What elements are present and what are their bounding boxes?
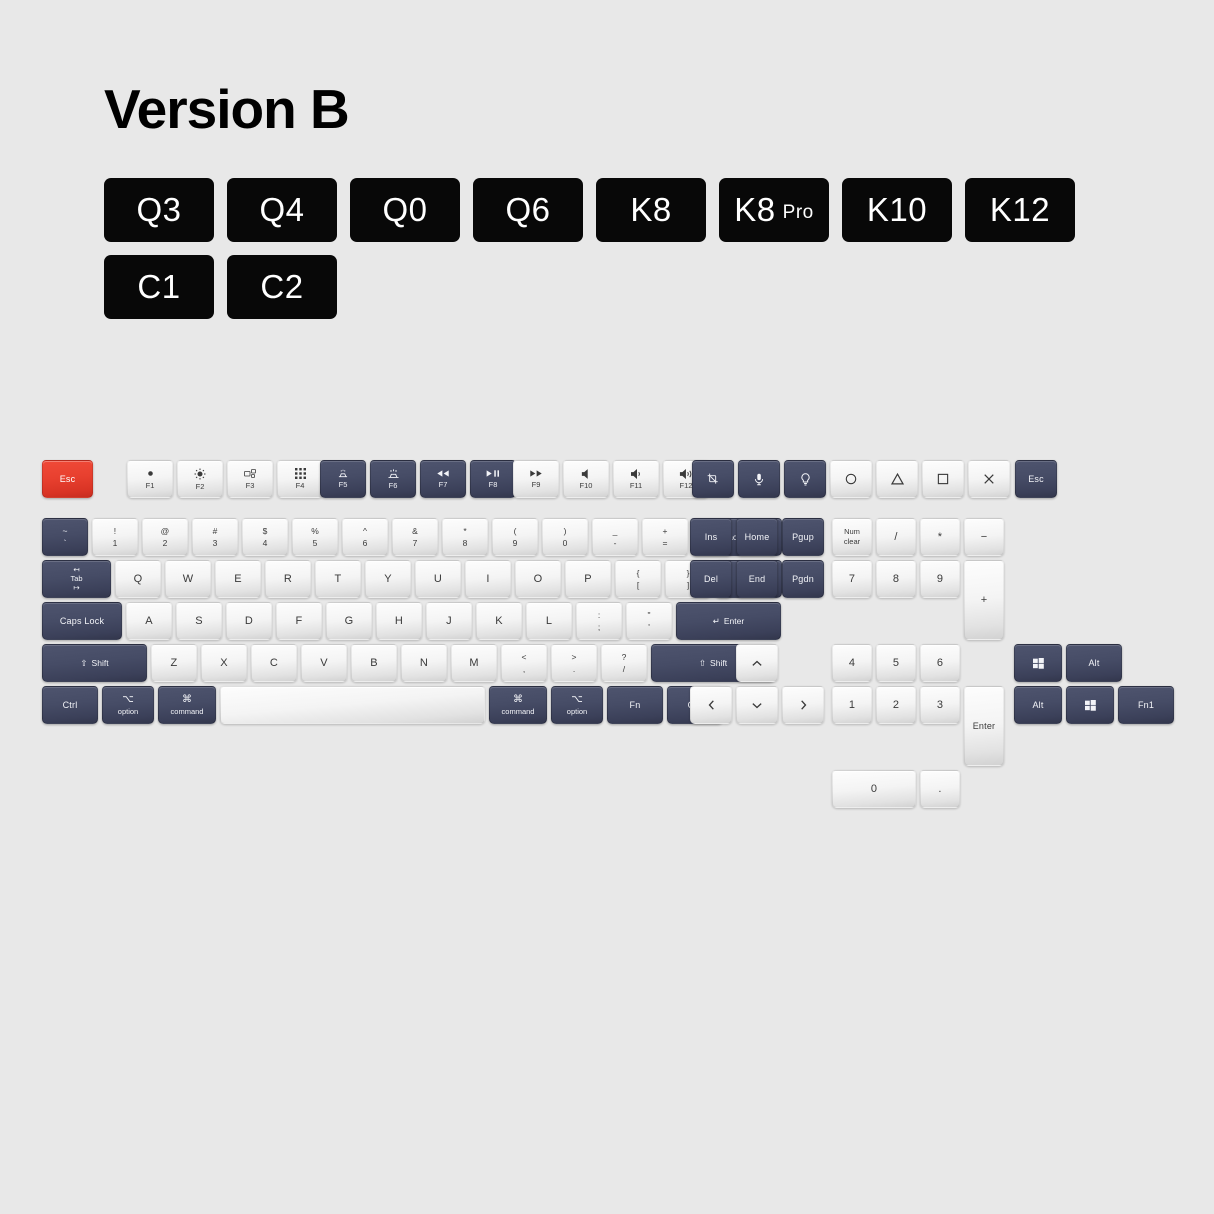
key-legend: W: [183, 573, 194, 586]
lightbulb-icon: [800, 473, 811, 486]
key-legend-shifted: _: [613, 526, 618, 536]
key-legend: 5: [893, 657, 899, 670]
key-legend: Home: [745, 532, 770, 542]
key-d[interactable]: D: [226, 602, 272, 640]
key-8[interactable]: *8: [442, 518, 488, 556]
badge-q6[interactable]: Q6: [473, 178, 583, 242]
key-command-left[interactable]: ⌘command: [158, 686, 216, 724]
key-legend: -: [614, 538, 617, 548]
key-f4[interactable]: F4: [277, 460, 323, 498]
backlight-down-icon: [336, 469, 350, 478]
key-legend: J: [446, 615, 452, 628]
screenshot-icon: [707, 473, 719, 485]
key-i[interactable]: I: [465, 560, 511, 598]
key-y[interactable]: Y: [365, 560, 411, 598]
key-f1[interactable]: F1: [127, 460, 173, 498]
key-legend: option: [567, 708, 587, 716]
numpad-cluster: Num clear / * − 7 8 9 + 4 5 6 1 2 3 Ente…: [832, 518, 1004, 808]
key-legend-shifted: (: [514, 526, 517, 536]
key-r[interactable]: R: [265, 560, 311, 598]
key-0[interactable]: )0: [542, 518, 588, 556]
key-legend: 2: [163, 538, 168, 548]
key-legend: Pgdn: [792, 574, 814, 584]
key-numpad-5[interactable]: 5: [876, 644, 916, 682]
mute-icon: [581, 469, 592, 479]
key-legend: 3: [213, 538, 218, 548]
key-legend: B: [370, 657, 378, 670]
badge-label: K8: [734, 191, 775, 229]
key-lightbulb[interactable]: [784, 460, 826, 498]
key-legend: F8: [489, 481, 498, 489]
key-insert[interactable]: Ins: [690, 518, 732, 556]
key-equal[interactable]: +=: [642, 518, 688, 556]
key-numpad-3[interactable]: 3: [920, 686, 960, 724]
key-legend: F2: [196, 483, 205, 491]
key-alt-left[interactable]: Alt: [1014, 686, 1062, 724]
key-legend: X: [220, 657, 228, 670]
badge-sublabel: Pro: [783, 202, 814, 224]
badge-k8[interactable]: K8: [596, 178, 706, 242]
key-esc-navy[interactable]: Esc: [1015, 460, 1057, 498]
key-numpad-2[interactable]: 2: [876, 686, 916, 724]
windows-extras-cluster: Alt Alt Fn1: [1014, 644, 1174, 724]
key-legend: 0: [563, 538, 568, 548]
key-legend-shifted: {: [637, 568, 640, 578]
number-row: ~` !1 @2 #3 $4 %5 ^6 &7: [42, 518, 782, 556]
key-b[interactable]: B: [351, 644, 397, 682]
key-g[interactable]: G: [326, 602, 372, 640]
key-legend: L: [546, 615, 552, 628]
key-numpad-9[interactable]: 9: [920, 560, 960, 598]
key-fn1[interactable]: Fn1: [1118, 686, 1174, 724]
key-u[interactable]: U: [415, 560, 461, 598]
up-arrow-icon: [752, 660, 762, 667]
key-z[interactable]: Z: [151, 644, 197, 682]
key-legend: U: [434, 573, 442, 586]
key-f5[interactable]: F5: [320, 460, 366, 498]
key-v[interactable]: V: [301, 644, 347, 682]
key-legend: 9: [937, 573, 943, 586]
key-legend: 2: [893, 699, 899, 712]
key-numpad-enter[interactable]: Enter: [964, 686, 1004, 766]
function-row-extras-navy-group: [692, 460, 826, 498]
key-legend: 4: [849, 657, 855, 670]
key-legend: `: [64, 538, 67, 548]
key-numpad-6[interactable]: 6: [920, 644, 960, 682]
key-numpad-decimal[interactable]: .: [920, 770, 960, 808]
key-legend: F10: [580, 482, 593, 490]
key-semicolon[interactable]: :;: [576, 602, 622, 640]
function-row-esc-navy-group: Esc: [1015, 460, 1057, 498]
key-1[interactable]: !1: [92, 518, 138, 556]
microphone-icon: [754, 473, 764, 486]
key-legend: Enter: [724, 616, 744, 626]
key-c[interactable]: C: [251, 644, 297, 682]
enter-arrow-icon: ↵: [713, 616, 720, 627]
key-command-right[interactable]: ⌘command: [489, 686, 547, 724]
key-legend: 7: [849, 573, 855, 586]
right-arrow-icon: [800, 700, 807, 710]
key-legend: 9: [513, 538, 518, 548]
key-alt-right-top[interactable]: Alt: [1066, 644, 1122, 682]
key-num-clear[interactable]: Num clear: [832, 518, 872, 556]
badge-c2[interactable]: C2: [227, 255, 337, 319]
brightness-down-icon: [145, 468, 156, 479]
key-win-right[interactable]: [1066, 686, 1114, 724]
key-legend: K: [495, 615, 503, 628]
key-legend: [: [637, 580, 639, 590]
key-legend: −: [981, 531, 988, 544]
key-numpad-minus[interactable]: −: [964, 518, 1004, 556]
key-legend: Esc: [60, 474, 76, 484]
key-legend: Alt: [1088, 658, 1099, 668]
key-legend: /: [894, 531, 897, 544]
key-legend: F7: [439, 481, 448, 489]
badge-label: Q6: [505, 191, 550, 229]
fast-forward-icon: [529, 469, 543, 478]
key-legend: S: [195, 615, 203, 628]
key-numpad-plus[interactable]: +: [964, 560, 1004, 640]
key-legend: 0: [871, 783, 877, 796]
key-q[interactable]: Q: [115, 560, 161, 598]
key-legend: 1: [113, 538, 118, 548]
key-legend: Shift: [92, 658, 109, 668]
key-f[interactable]: F: [276, 602, 322, 640]
badge-k12[interactable]: K12: [965, 178, 1075, 242]
option-icon: ⌥: [571, 695, 583, 705]
key-shift-left[interactable]: ⇧Shift: [42, 644, 147, 682]
key-legend: .: [938, 783, 941, 796]
key-n[interactable]: N: [401, 644, 447, 682]
modifier-row: Ctrl ⌥option ⌘command ⌘command ⌥option F…: [42, 686, 723, 724]
key-f10[interactable]: F10: [563, 460, 609, 498]
key-legend-shifted: !: [114, 526, 116, 536]
key-legend: 8: [893, 573, 899, 586]
windows-icon: [1033, 658, 1044, 669]
key-j[interactable]: J: [426, 602, 472, 640]
key-p[interactable]: P: [565, 560, 611, 598]
key-legend: F: [296, 615, 303, 628]
key-legend: Y: [384, 573, 392, 586]
compatibility-badge-list: Q3 Q4 Q0 Q6 K8 K8Pro K10 K12 C1 C2: [104, 178, 1075, 332]
key-screenshot[interactable]: [692, 460, 734, 498]
key-legend-shifted: &: [412, 526, 418, 536]
key-legend: F1: [146, 482, 155, 490]
key-legend: Ins: [705, 532, 718, 542]
function-row-media-group: F9 F10 F11: [513, 460, 709, 498]
key-microphone[interactable]: [738, 460, 780, 498]
key-7[interactable]: &7: [392, 518, 438, 556]
key-legend: command: [502, 708, 535, 716]
windows-icon: [1085, 700, 1096, 711]
key-arrow-right[interactable]: [782, 686, 824, 724]
key-t[interactable]: T: [315, 560, 361, 598]
key-triangle[interactable]: [876, 460, 918, 498]
key-legend: N: [420, 657, 428, 670]
shift-arrow-icon: ⇧: [80, 658, 87, 669]
key-numpad-4[interactable]: 4: [832, 644, 872, 682]
key-h[interactable]: H: [376, 602, 422, 640]
key-legend: Caps Lock: [60, 616, 104, 626]
key-legend: Q: [134, 573, 143, 586]
left-arrow-icon: [708, 700, 715, 710]
command-icon: ⌘: [513, 695, 523, 705]
key-numpad-8[interactable]: 8: [876, 560, 916, 598]
key-legend: ,: [523, 664, 525, 674]
play-pause-icon: [486, 469, 500, 478]
badge-label: K12: [990, 191, 1050, 229]
key-legend: ': [648, 622, 650, 632]
key-legend-shifted: +: [663, 526, 668, 536]
key-k[interactable]: K: [476, 602, 522, 640]
triangle-icon: [891, 473, 904, 485]
key-cross[interactable]: [968, 460, 1010, 498]
mission-control-icon: [244, 469, 257, 479]
key-5[interactable]: %5: [292, 518, 338, 556]
key-legend: Alt: [1032, 700, 1043, 710]
key-f8[interactable]: F8: [470, 460, 516, 498]
key-legend: F9: [532, 481, 541, 489]
key-legend-shifted: ): [564, 526, 567, 536]
key-legend: Ctrl: [63, 700, 78, 710]
key-f6[interactable]: F6: [370, 460, 416, 498]
circle-icon: [845, 473, 857, 485]
key-pageup[interactable]: Pgup: [782, 518, 824, 556]
key-legend-shifted: %: [311, 526, 319, 536]
key-legend-shifted: :: [598, 610, 600, 620]
key-option-left[interactable]: ⌥option: [102, 686, 154, 724]
key-legend-line2: clear: [844, 538, 860, 546]
key-legend-shifted: ~: [63, 526, 68, 536]
badge-label: K10: [867, 191, 927, 229]
function-row-mac-group: F1 F2 F3: [127, 460, 323, 498]
key-legend: ;: [598, 622, 600, 632]
key-9[interactable]: (9: [492, 518, 538, 556]
key-legend: F6: [389, 482, 398, 490]
key-legend: 4: [263, 538, 268, 548]
key-f11[interactable]: F11: [613, 460, 659, 498]
key-3[interactable]: #3: [192, 518, 238, 556]
key-arrow-up[interactable]: [736, 644, 778, 682]
shift-row: ⇧Shift Z X C V B N M <, >. ?/ ⇧Shift: [42, 644, 775, 682]
key-s[interactable]: S: [176, 602, 222, 640]
key-legend-line1: Num: [844, 528, 860, 536]
key-f3[interactable]: F3: [227, 460, 273, 498]
key-option-right[interactable]: ⌥option: [551, 686, 603, 724]
key-6[interactable]: ^6: [342, 518, 388, 556]
key-f2[interactable]: F2: [177, 460, 223, 498]
tab-back-icon: ↤: [73, 566, 79, 574]
key-legend: F12: [680, 482, 693, 490]
home-row: Caps Lock A S D F G H J K L :; "' ↵Enter: [42, 602, 781, 640]
key-legend: ]: [687, 580, 689, 590]
down-arrow-icon: [752, 702, 762, 709]
key-numpad-7[interactable]: 7: [832, 560, 872, 598]
badge-label: Q3: [136, 191, 181, 229]
key-numpad-1[interactable]: 1: [832, 686, 872, 724]
key-comma[interactable]: <,: [501, 644, 547, 682]
qwerty-row: ↤ Tab ↦ Q W E R T Y U I O P {[ }] |\: [42, 560, 782, 598]
cross-icon: [983, 473, 995, 485]
key-period[interactable]: >.: [551, 644, 597, 682]
keycap-set-layout: Esc F1 F2: [0, 440, 1214, 760]
brightness-up-icon: [194, 468, 206, 480]
key-legend: 6: [937, 657, 943, 670]
badge-q4[interactable]: Q4: [227, 178, 337, 242]
key-numpad-0[interactable]: 0: [832, 770, 916, 808]
key-legend-shifted: @: [161, 526, 170, 536]
key-legend: .: [573, 664, 575, 674]
key-legend: P: [584, 573, 592, 586]
key-numpad-divide[interactable]: /: [876, 518, 916, 556]
rewind-icon: [436, 469, 450, 478]
key-o[interactable]: O: [515, 560, 561, 598]
badge-c1[interactable]: C1: [104, 255, 214, 319]
key-win-left[interactable]: [1014, 644, 1062, 682]
key-legend: D: [245, 615, 253, 628]
key-numpad-multiply[interactable]: *: [920, 518, 960, 556]
key-square[interactable]: [922, 460, 964, 498]
key-delete[interactable]: Del: [690, 560, 732, 598]
key-e[interactable]: E: [215, 560, 261, 598]
badge-label: Q0: [382, 191, 427, 229]
key-arrow-left[interactable]: [690, 686, 732, 724]
key-legend: T: [335, 573, 342, 586]
key-pagedown[interactable]: Pgdn: [782, 560, 824, 598]
key-legend: E: [234, 573, 242, 586]
page-title: Version B: [104, 82, 349, 137]
badge-label: K8: [630, 191, 671, 229]
volume-down-icon: [630, 469, 643, 479]
key-legend: F4: [296, 482, 305, 490]
key-legend: F3: [246, 482, 255, 490]
key-legend: 7: [413, 538, 418, 548]
key-legend: C: [270, 657, 278, 670]
function-row-extras-white-group: [830, 460, 1010, 498]
backlight-up-icon: [386, 469, 401, 479]
square-icon: [937, 473, 949, 485]
key-legend: 6: [363, 538, 368, 548]
key-legend: Pgup: [792, 532, 814, 542]
key-legend: 8: [463, 538, 468, 548]
badge-q0[interactable]: Q0: [350, 178, 460, 242]
key-circle[interactable]: [830, 460, 872, 498]
badge-row-2: C1 C2: [104, 255, 1075, 319]
key-legend: option: [118, 708, 138, 716]
key-legend: Enter: [973, 721, 996, 731]
key-tab[interactable]: ↤ Tab ↦: [42, 560, 111, 598]
key-bracket-left[interactable]: {[: [615, 560, 661, 598]
key-legend: +: [981, 594, 988, 607]
function-row-esc-group: Esc: [42, 460, 93, 498]
key-legend: Fn: [630, 700, 641, 710]
tab-forward-icon: ↦: [73, 584, 79, 592]
key-legend-shifted: ": [647, 610, 650, 620]
function-row-backlight-group: F5 F6 F7: [320, 460, 516, 498]
key-legend-shifted: $: [263, 526, 268, 536]
badge-row-1: Q3 Q4 Q0 Q6 K8 K8Pro K10 K12: [104, 178, 1075, 242]
key-legend: Z: [171, 657, 178, 670]
key-legend: Tab: [70, 575, 82, 583]
key-legend: Esc: [1028, 474, 1044, 484]
launchpad-icon: [295, 468, 306, 479]
key-legend-shifted: ^: [363, 526, 367, 536]
key-f7[interactable]: F7: [420, 460, 466, 498]
badge-q3[interactable]: Q3: [104, 178, 214, 242]
badge-label: C1: [137, 268, 180, 306]
key-a[interactable]: A: [126, 602, 172, 640]
key-legend: R: [284, 573, 292, 586]
key-2[interactable]: @2: [142, 518, 188, 556]
key-x[interactable]: X: [201, 644, 247, 682]
key-legend: =: [663, 538, 668, 548]
key-legend-shifted: }: [687, 568, 690, 578]
key-esc-red[interactable]: Esc: [42, 460, 93, 498]
key-caps-lock[interactable]: Caps Lock: [42, 602, 122, 640]
key-legend-shifted: <: [522, 652, 527, 662]
key-legend: A: [145, 615, 153, 628]
key-legend-shifted: >: [572, 652, 577, 662]
key-legend: O: [534, 573, 543, 586]
key-legend-shifted: *: [463, 526, 466, 536]
key-legend: End: [749, 574, 766, 584]
key-legend-shifted: #: [213, 526, 218, 536]
key-fn[interactable]: Fn: [607, 686, 663, 724]
key-legend: *: [938, 531, 942, 544]
key-legend: Del: [704, 574, 718, 584]
key-arrow-down[interactable]: [736, 686, 778, 724]
key-quote[interactable]: "': [626, 602, 672, 640]
key-end[interactable]: End: [736, 560, 778, 598]
key-f9[interactable]: F9: [513, 460, 559, 498]
option-icon: ⌥: [122, 695, 134, 705]
key-legend: H: [395, 615, 403, 628]
arrow-cluster: [690, 644, 824, 724]
badge-label: Q4: [259, 191, 304, 229]
key-legend: G: [345, 615, 354, 628]
key-legend: 1: [849, 699, 855, 712]
key-legend: F5: [339, 481, 348, 489]
badge-label: C2: [260, 268, 303, 306]
key-legend: 5: [313, 538, 318, 548]
key-l[interactable]: L: [526, 602, 572, 640]
key-legend: /: [623, 664, 625, 674]
key-ctrl-left[interactable]: Ctrl: [42, 686, 98, 724]
key-legend: Fn1: [1138, 700, 1154, 710]
key-legend-shifted: ?: [622, 652, 627, 662]
key-legend: F11: [630, 482, 642, 490]
key-backtick[interactable]: ~`: [42, 518, 88, 556]
key-legend: 3: [937, 699, 943, 712]
key-m[interactable]: M: [451, 644, 497, 682]
key-legend: M: [469, 657, 478, 670]
command-icon: ⌘: [182, 695, 192, 705]
key-home[interactable]: Home: [736, 518, 778, 556]
key-slash[interactable]: ?/: [601, 644, 647, 682]
key-4[interactable]: $4: [242, 518, 288, 556]
nav-cluster: Ins Home Pgup Del End Pgdn: [690, 518, 824, 598]
key-legend: V: [320, 657, 328, 670]
key-w[interactable]: W: [165, 560, 211, 598]
key-minus[interactable]: _-: [592, 518, 638, 556]
badge-k10[interactable]: K10: [842, 178, 952, 242]
key-legend: command: [171, 708, 204, 716]
key-enter[interactable]: ↵Enter: [676, 602, 781, 640]
key-legend: I: [486, 573, 489, 586]
badge-k8-pro[interactable]: K8Pro: [719, 178, 829, 242]
key-spacebar[interactable]: [220, 686, 485, 724]
